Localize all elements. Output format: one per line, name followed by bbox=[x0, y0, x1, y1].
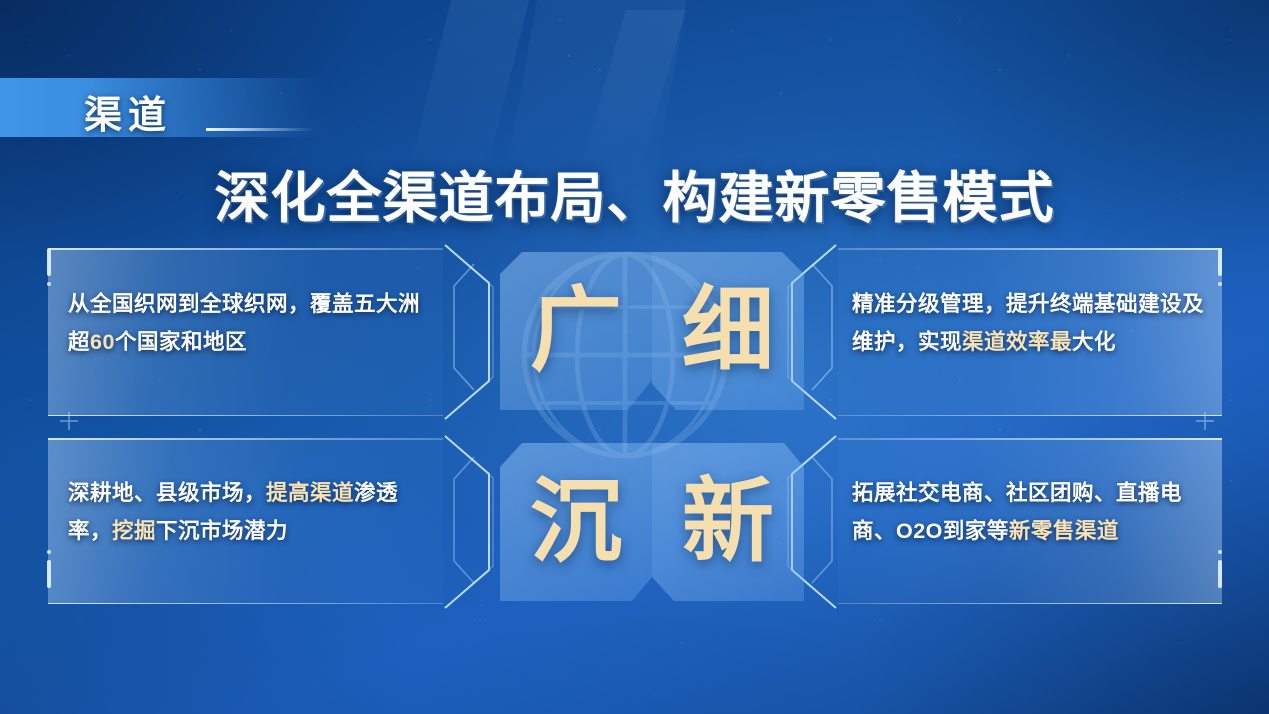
panel-bottom-border bbox=[838, 415, 1222, 417]
text-seg-highlight: 挖掘 bbox=[112, 519, 156, 543]
panel-bottom-border bbox=[48, 603, 443, 605]
hex-glyph-guang: 广 bbox=[530, 285, 622, 377]
panel-top-border bbox=[838, 438, 1222, 440]
panel-bottom-border bbox=[48, 415, 443, 417]
section-tag-underline bbox=[206, 128, 314, 131]
decor-plus-tick-1 bbox=[60, 412, 78, 430]
panel-top-border bbox=[838, 248, 1222, 250]
text-seg-highlight: 新零售渠道 bbox=[1009, 519, 1119, 543]
decor-bracket-left-lower bbox=[452, 455, 476, 590]
text-seg: 深耕地、县级市场， bbox=[68, 481, 266, 505]
hex-glyph-chen: 沉 bbox=[530, 476, 622, 568]
card-text-chen: 深耕地、县级市场，提高渠道渗透率，挖掘下沉市场潜力 bbox=[68, 474, 428, 550]
text-seg: 个国家和地区 bbox=[115, 330, 247, 354]
decor-bracket-right bbox=[810, 262, 834, 397]
text-seg-highlight: 提高渠道 bbox=[266, 481, 354, 505]
slide-canvas: 渠道 深化全渠道布局、构建新零售模式 从全国织网到全球织网，覆盖五大洲超60个国… bbox=[0, 0, 1269, 714]
text-seg-highlight: 渠道效率最 bbox=[962, 330, 1072, 354]
section-tag-label: 渠道 bbox=[84, 84, 172, 139]
chevron-right-icon-guang bbox=[443, 243, 495, 421]
text-seg: 大化 bbox=[1072, 330, 1116, 354]
edge-dot-icon bbox=[1218, 550, 1222, 554]
text-seg-highlight: 60 bbox=[90, 330, 115, 354]
hex-card-xi: 细 bbox=[652, 252, 804, 410]
card-text-xi: 精准分级管理，提升终端基础建设及维护，实现渠道效率最大化 bbox=[852, 285, 1210, 361]
hex-glyph-xin: 新 bbox=[682, 476, 774, 568]
hex-card-guang: 广 bbox=[500, 252, 652, 410]
decor-bracket-right-lower bbox=[810, 455, 834, 590]
edge-bar-icon bbox=[47, 248, 51, 276]
edge-bar-icon bbox=[47, 560, 51, 588]
panel-top-border bbox=[48, 248, 443, 250]
hex-card-chen: 沉 bbox=[500, 443, 652, 601]
edge-bar-icon bbox=[1218, 248, 1222, 276]
card-text-guang: 从全国织网到全球织网，覆盖五大洲超60个国家和地区 bbox=[68, 285, 428, 361]
edge-bar-icon bbox=[1218, 560, 1222, 588]
hex-glyph-xi: 细 bbox=[682, 285, 774, 377]
edge-dot-icon bbox=[47, 550, 51, 554]
page-title: 深化全渠道布局、构建新零售模式 bbox=[0, 153, 1269, 233]
text-seg: 下沉市场潜力 bbox=[156, 519, 288, 543]
card-text-xin: 拓展社交电商、社区团购、直播电商、O2O到家等新零售渠道 bbox=[852, 474, 1212, 550]
decor-bracket-left bbox=[452, 262, 476, 397]
edge-dot-icon bbox=[47, 282, 51, 286]
panel-top-border bbox=[48, 438, 443, 440]
hex-card-xin: 新 bbox=[652, 443, 804, 601]
panel-bottom-border bbox=[838, 603, 1222, 605]
decor-plus-tick-2 bbox=[1196, 412, 1214, 430]
chevron-right-icon-chen bbox=[443, 434, 495, 610]
edge-dot-icon bbox=[1218, 282, 1222, 286]
